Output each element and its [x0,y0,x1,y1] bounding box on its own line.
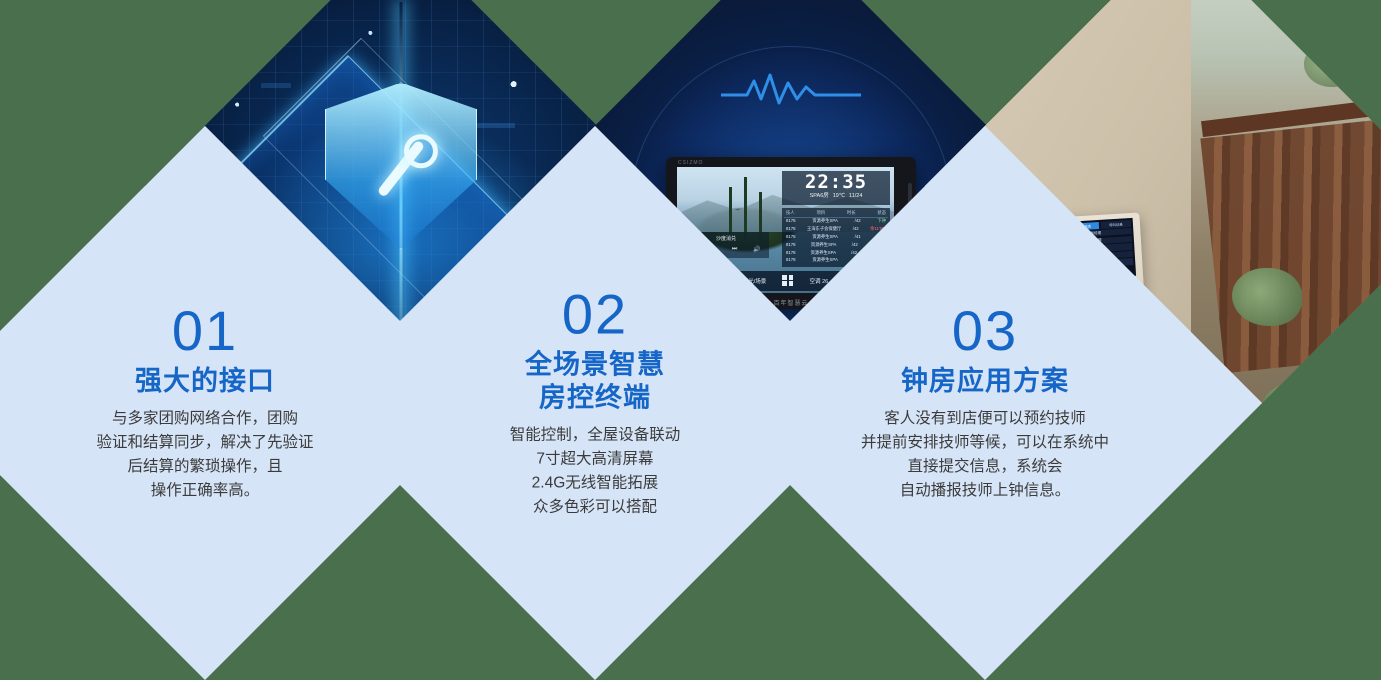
heartbeat-pulse-icon [721,69,861,109]
row-tech: 8178 [786,234,796,240]
feature-description-line: 直接提交信息，系统会 [815,455,1155,479]
feature-description: 客人没有到店便可以预约技师 并提前安排技师等候，可以在系统中 直接提交信息，系统… [815,407,1155,503]
feature-description-line: 验证和结算同步，解决了先验证 [35,431,375,455]
row-dur: /41 [855,234,861,240]
feature-description-line: 客人没有到店便可以预约技师 [815,407,1155,431]
row-item: 资源养生SPA [812,257,837,263]
tablet-brand-bottom: 百年智慧云 [773,298,808,307]
poster-stage: 01 强大的接口 与多家团购网络合作，团购 验证和结算同步，解决了先验证 后结算… [0,0,1381,603]
dock-item-ac[interactable]: 空调 26 [810,277,829,285]
potted-plant [1304,43,1356,87]
row-dur: /42 [855,218,861,224]
clock-room: SPA6房 [810,192,829,200]
feature-description-line: 后结算的繁琐操作，且 [35,455,375,479]
feature-description-line: 自动播报技师上钟信息。 [815,479,1155,503]
clock-widget: 22:35 SPA6房 19℃ 11/24 [782,171,890,205]
wallpaper-tree [744,177,747,240]
wood-fence [1200,113,1381,373]
feature-title-line: 全场景智慧 [425,349,765,382]
col-header: 项目 [816,210,825,216]
row-tech: 8178 [786,218,796,224]
feature-title-line: 强大的接口 [35,365,375,398]
row-item: 资源养生SPA [812,218,837,224]
feature-description-line: 2.4G无线智能拓展 [425,471,765,495]
feature-number: 01 [35,303,375,359]
schedule-list-header: 技人 项目 时长 状态 [784,210,888,218]
row-status: 下钟 [877,218,886,224]
potted-plant [1232,268,1302,326]
feature-description-line: 操作正确率高。 [35,479,375,503]
row-item: 资源养生SPA [811,242,836,248]
volume-icon[interactable]: 🔊 [753,246,760,253]
row-dur: /42 [852,242,858,248]
feature-description-line: 与多家团购网络合作，团购 [35,407,375,431]
feature-description-line: 众多色彩可以搭配 [425,495,765,519]
feature-title-line: 钟房应用方案 [815,365,1155,398]
feature-description-line: 智能控制，全屋设备联动 [425,423,765,447]
pulse-svg [721,69,861,109]
feature-card-3-content: 03 钟房应用方案 客人没有到店便可以预约技师 并提前安排技师等候，可以在系统中… [815,303,1155,503]
potted-plant [1263,381,1349,431]
clock-time: 22:35 [786,173,886,192]
row-tech: 8178 [786,250,796,256]
schedule-row: 8178 王海东子会保健厅 /42 余11'50" [784,225,888,233]
row-item: 资源养生SPA [812,234,837,240]
row-tech: 8178 [786,257,796,263]
clock-date: 11/24 [849,192,862,200]
schedule-row: 8178 资源养生SPA /42 下钟 [784,218,888,226]
feature-description-line: 并提前安排技师等候，可以在系统中 [815,431,1155,455]
row-tech: 8178 [786,242,796,248]
row-dur: /42 [853,226,859,232]
feature-title: 钟房应用方案 [815,365,1155,398]
feature-description: 智能控制，全屋设备联动 7寸超大高清屏幕 2.4G无线智能拓展 众多色彩可以搭配 [425,423,765,519]
clock-meta: SPA6房 19℃ 11/24 [786,192,886,200]
feature-title: 强大的接口 [35,365,375,398]
app-grid-icon[interactable] [782,275,793,286]
row-tech: 8178 [786,226,796,232]
row-item: 资源养生SPA [811,250,836,256]
feature-description: 与多家团购网络合作，团购 验证和结算同步，解决了先验证 后结算的繁琐操作，且 操… [35,407,375,503]
feature-number: 02 [425,287,765,343]
feature-number: 03 [815,303,1155,359]
tablet-brand-top: CSIZMO [678,160,703,166]
clock-temp: 19℃ [833,192,845,200]
next-icon[interactable]: ⏭ [732,246,737,253]
row-item: 王海东子会保健厅 [807,226,841,232]
col-header: 技人 [786,210,795,216]
feature-description-line: 7寸超大高清屏幕 [425,447,765,471]
col-header: 时长 [847,210,856,216]
col-header: 状态 [877,210,886,216]
